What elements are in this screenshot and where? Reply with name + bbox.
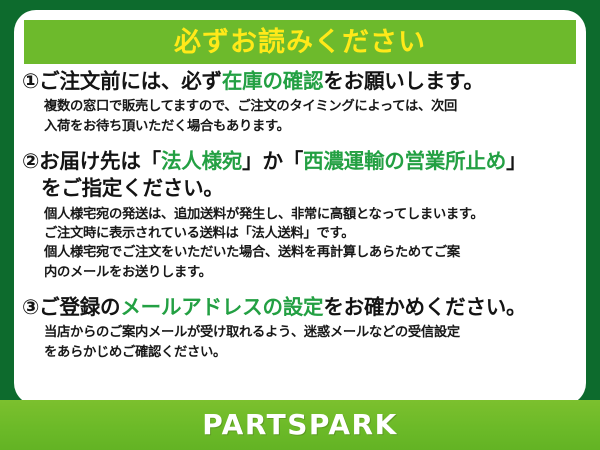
item-3-note-line-2: をあらかじめご確認ください。 <box>44 343 578 362</box>
item-3-note: 当店からのご案内メールが受け取れるよう、迷惑メールなどの受信設定 をあらかじめご… <box>22 323 578 362</box>
item-3-heading-part-3: をお確かめください。 <box>323 295 526 319</box>
title-bar: 必ずお読みください <box>24 20 576 64</box>
notice-item-1: ①ご注文前には、必ず在庫の確認をお願いします。 複数の窓口で販売してますので、ご… <box>22 68 578 136</box>
item-2-note: 個人様宅宛の発送は、追加送料が発生し、非常に高額となってしまいます。 ご注文時に… <box>22 205 578 282</box>
item-2-heading-line-1: ②お届け先は「法人様宛」か「西濃運輸の営業所止め」 <box>22 148 578 175</box>
notice-banner: 必ずお読みください ①ご注文前には、必ず在庫の確認をお願いします。 複数の窓口で… <box>0 0 600 450</box>
item-1-note: 複数の窓口で販売してますので、ご注文のタイミングによっては、次回 入荷をお待ち頂… <box>22 97 578 136</box>
item-1-note-line-2: 入荷をお待ち頂いただく場合もあります。 <box>44 117 578 136</box>
item-1-heading: ①ご注文前には、必ず在庫の確認をお願いします。 <box>22 68 578 95</box>
footer-bar: PARTSPARK <box>0 400 600 450</box>
item-2-heading-part-5: 」 <box>506 149 526 173</box>
item-2-heading-part-1: ②お届け先は「 <box>22 149 161 173</box>
item-2-heading-line-2: をご指定ください。 <box>22 175 578 202</box>
notice-item-3: ③ご登録のメールアドレスの設定をお確かめください。 当店からのご案内メールが受け… <box>22 294 578 362</box>
item-1-heading-highlight: 在庫の確認 <box>222 69 324 93</box>
item-3-heading-highlight: メールアドレスの設定 <box>120 295 323 319</box>
notice-content: ①ご注文前には、必ず在庫の確認をお願いします。 複数の窓口で販売してますので、ご… <box>14 68 586 362</box>
item-2-heading-highlight-1: 法人様宛 <box>161 149 242 173</box>
notice-item-2: ②お届け先は「法人様宛」か「西濃運輸の営業所止め」 をご指定ください。 個人様宅… <box>22 148 578 282</box>
item-2-heading-part-3: 」か「 <box>242 149 303 173</box>
banner-title: 必ずお読みください <box>174 29 426 56</box>
item-1-heading-part-3: をお願いします。 <box>323 69 483 93</box>
item-3-heading-part-1: ③ご登録の <box>22 295 120 319</box>
item-1-note-line-1: 複数の窓口で販売してますので、ご注文のタイミングによっては、次回 <box>44 97 578 116</box>
item-2-note-line-4: 内のメールをお送りします。 <box>44 263 578 282</box>
item-2-note-line-1: 個人様宅宛の発送は、追加送料が発生し、非常に高額となってしまいます。 <box>44 205 578 224</box>
item-3-heading: ③ご登録のメールアドレスの設定をお確かめください。 <box>22 294 578 321</box>
item-3-note-line-1: 当店からのご案内メールが受け取れるよう、迷惑メールなどの受信設定 <box>44 323 578 342</box>
item-2-note-line-3: 個人様宅宛でご注文をいただいた場合、送料を再計算しあらためてご案 <box>44 243 578 262</box>
notice-panel: 必ずお読みください ①ご注文前には、必ず在庫の確認をお願いします。 複数の窓口で… <box>14 10 586 405</box>
brand-logo-text: PARTSPARK <box>202 411 398 439</box>
spacer-1 <box>22 136 578 148</box>
spacer-2 <box>22 282 578 294</box>
item-2-heading-highlight-2: 西濃運輸の営業所止め <box>303 149 506 173</box>
item-1-heading-part-1: ①ご注文前には、必ず <box>22 69 222 93</box>
item-2-note-line-2: ご注文時に表示されている送料は「法人送料」です。 <box>44 224 578 243</box>
